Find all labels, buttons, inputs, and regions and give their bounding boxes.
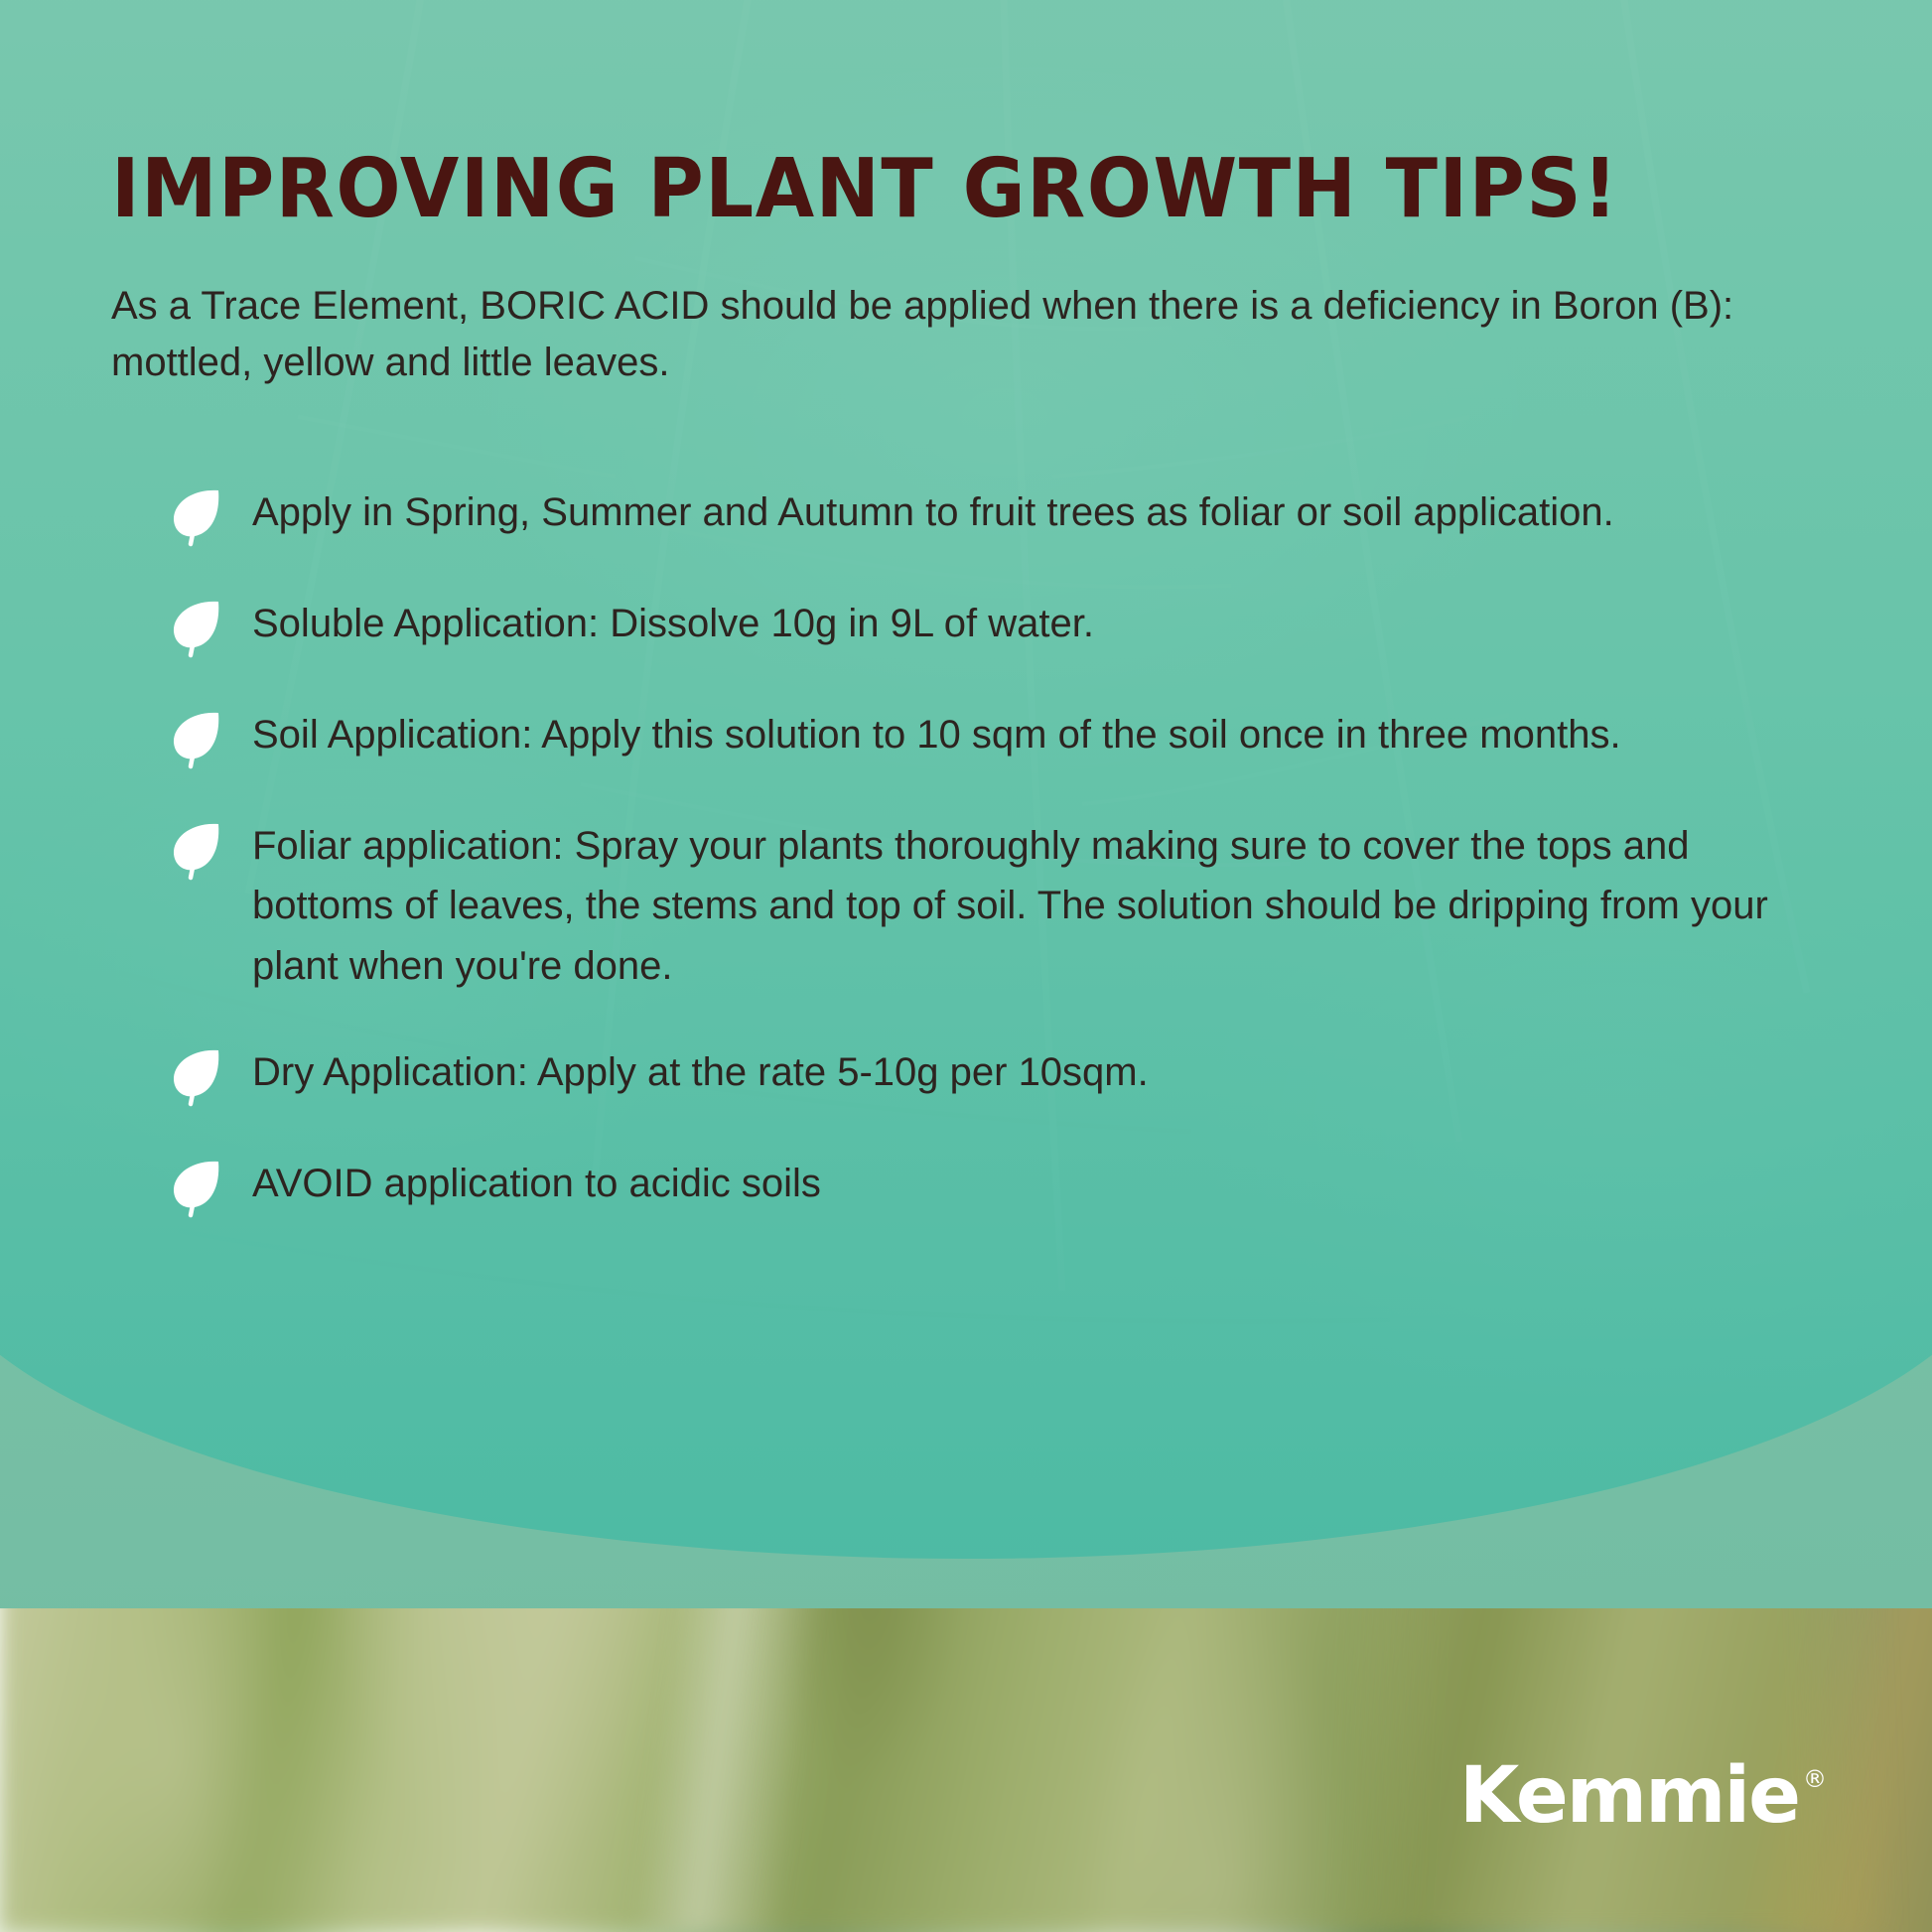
poster-content: IMPROVING PLANT GROWTH TIPS! As a Trace … [0,0,1932,1219]
list-item: AVOID application to acidic soils [171,1154,1821,1219]
brand-logo: Kemmie ® [1459,1761,1827,1833]
list-item: Soluble Application: Dissolve 10g in 9L … [171,594,1821,659]
leaf-icon [171,820,224,882]
leaf-icon [171,1158,224,1219]
list-item-text: AVOID application to acidic soils [252,1154,821,1214]
list-item-text: Foliar application: Spray your plants th… [252,816,1821,997]
leaf-icon [171,709,224,770]
list-item-text: Soil Application: Apply this solution to… [252,705,1621,765]
brand-logo-wordmark: Kemmie [1459,1761,1799,1833]
list-item: Foliar application: Spray your plants th… [171,816,1821,997]
list-item-text: Apply in Spring, Summer and Autumn to fr… [252,483,1614,543]
tips-list: Apply in Spring, Summer and Autumn to fr… [111,483,1821,1219]
subtitle-text: As a Trace Element, BORIC ACID should be… [111,278,1821,391]
leaf-icon [171,598,224,659]
list-item: Dry Application: Apply at the rate 5-10g… [171,1042,1821,1108]
list-item-text: Dry Application: Apply at the rate 5-10g… [252,1042,1149,1103]
list-item: Soil Application: Apply this solution to… [171,705,1821,770]
list-item: Apply in Spring, Summer and Autumn to fr… [171,483,1821,548]
page-title: IMPROVING PLANT GROWTH TIPS! [111,149,1889,230]
leaf-icon [171,1046,224,1108]
poster-canvas: IMPROVING PLANT GROWTH TIPS! As a Trace … [0,0,1932,1932]
list-item-text: Soluble Application: Dissolve 10g in 9L … [252,594,1094,654]
leaf-icon [171,486,224,548]
registered-trademark-icon: ® [1803,1767,1827,1791]
